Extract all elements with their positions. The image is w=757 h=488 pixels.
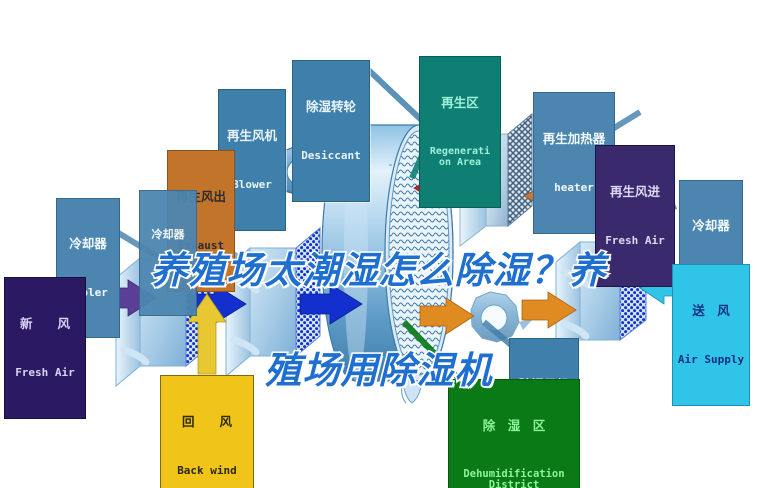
label-en: Desiccant: [297, 150, 365, 162]
label-regeneration-area[interactable]: 再生区 Regenerati on Area: [419, 56, 501, 208]
label-fresh-air-inlet[interactable]: 新 风 Fresh Air: [4, 277, 86, 419]
label-en: Back wind: [165, 465, 249, 477]
label-cn: 再生区: [423, 96, 497, 110]
label-cn: 冷却器: [683, 219, 739, 233]
label-desiccant-rotor[interactable]: 除湿转轮 Desiccant: [292, 60, 370, 202]
label-air-supply[interactable]: 送 风 Air Supply: [672, 264, 750, 406]
label-cn: 再生风机: [223, 129, 281, 143]
diagram-canvas: XY: [0, 0, 757, 488]
label-back-wind[interactable]: 回 风 Back wind: [160, 375, 254, 488]
label-cn: 除 湿 区: [453, 419, 575, 433]
label-en: Fresh Air: [9, 367, 81, 379]
label-cn: 新 风: [9, 317, 81, 331]
label-cn: 冷却器: [143, 229, 193, 241]
label-cn: 送 风: [677, 304, 745, 318]
label-dehumidification-district[interactable]: 除 湿 区 Dehumidification District: [448, 379, 580, 488]
label-cn: 除湿转轮: [297, 100, 365, 114]
label-en: Regenerati on Area: [423, 146, 497, 168]
label-en: Dehumidification District: [453, 469, 575, 488]
label-cn: 回 风: [165, 415, 249, 429]
label-cooler-middle[interactable]: 冷却器: [139, 190, 197, 316]
label-en: Air Supply: [677, 354, 745, 366]
label-cn: 冷却器: [60, 237, 116, 251]
label-cn: 再生风进: [600, 185, 670, 199]
label-cn: 再生加热器: [538, 132, 610, 146]
label-en: Fresh Air: [600, 235, 670, 247]
label-regeneration-fresh-air[interactable]: 再生风进 Fresh Air: [595, 145, 675, 287]
